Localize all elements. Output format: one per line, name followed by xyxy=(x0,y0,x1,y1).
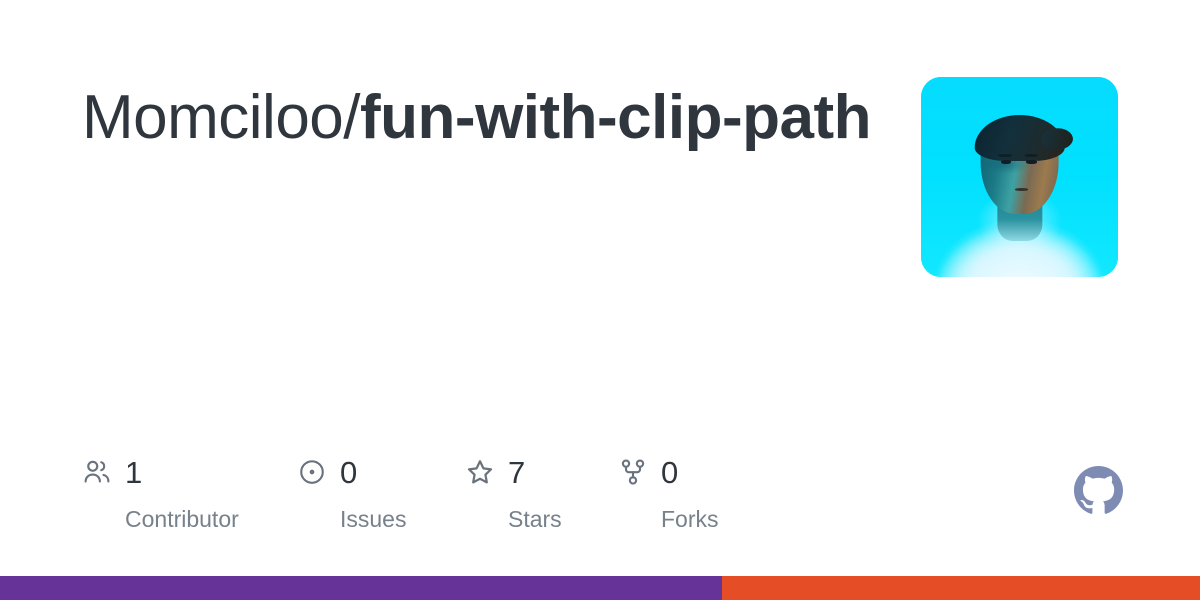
stat-forks-label: Forks xyxy=(661,508,719,531)
stat-contributors[interactable]: 1 Contributor xyxy=(82,452,297,531)
language-bar-segment-orange xyxy=(722,576,1200,600)
language-bar xyxy=(0,576,1200,600)
stat-forks-count: 0 xyxy=(661,457,678,488)
repo-owner[interactable]: Momciloo xyxy=(82,83,343,152)
github-mark-icon xyxy=(1074,466,1123,515)
issue-opened-icon xyxy=(297,457,327,487)
avatar-hair xyxy=(974,115,1065,161)
repo-forked-icon xyxy=(618,457,648,487)
stat-issues-label: Issues xyxy=(340,508,406,531)
stat-stars-count: 7 xyxy=(508,457,525,488)
stat-issues-top: 0 xyxy=(297,452,357,492)
stat-contributors-label: Contributor xyxy=(125,508,239,531)
people-icon xyxy=(82,457,112,487)
stat-stars-label: Stars xyxy=(508,508,562,531)
github-social-preview-card: Momciloo/fun-with-clip-path xyxy=(0,0,1200,600)
stat-contributors-top: 1 xyxy=(82,452,142,492)
page-title: Momciloo/fun-with-clip-path xyxy=(82,82,872,154)
stat-contributors-count: 1 xyxy=(125,457,142,488)
stat-issues-count: 0 xyxy=(340,457,357,488)
repo-stats: 1 Contributor 0 Issues 7 Stars xyxy=(82,452,758,531)
avatar-eye-left xyxy=(1001,160,1011,164)
repo-name[interactable]: fun-with-clip-path xyxy=(360,83,871,152)
stat-forks-top: 0 xyxy=(618,452,678,492)
owner-avatar[interactable] xyxy=(921,77,1118,277)
stat-issues[interactable]: 0 Issues xyxy=(297,452,465,531)
stat-stars-top: 7 xyxy=(465,452,525,492)
avatar-brow-left xyxy=(998,154,1012,157)
avatar-photo xyxy=(921,77,1118,277)
avatar-eye-right xyxy=(1026,160,1036,164)
star-icon xyxy=(465,457,495,487)
language-bar-segment-purple xyxy=(0,576,722,600)
stat-forks[interactable]: 0 Forks xyxy=(618,452,758,531)
title-separator: / xyxy=(343,83,360,152)
stat-stars[interactable]: 7 Stars xyxy=(465,452,618,531)
